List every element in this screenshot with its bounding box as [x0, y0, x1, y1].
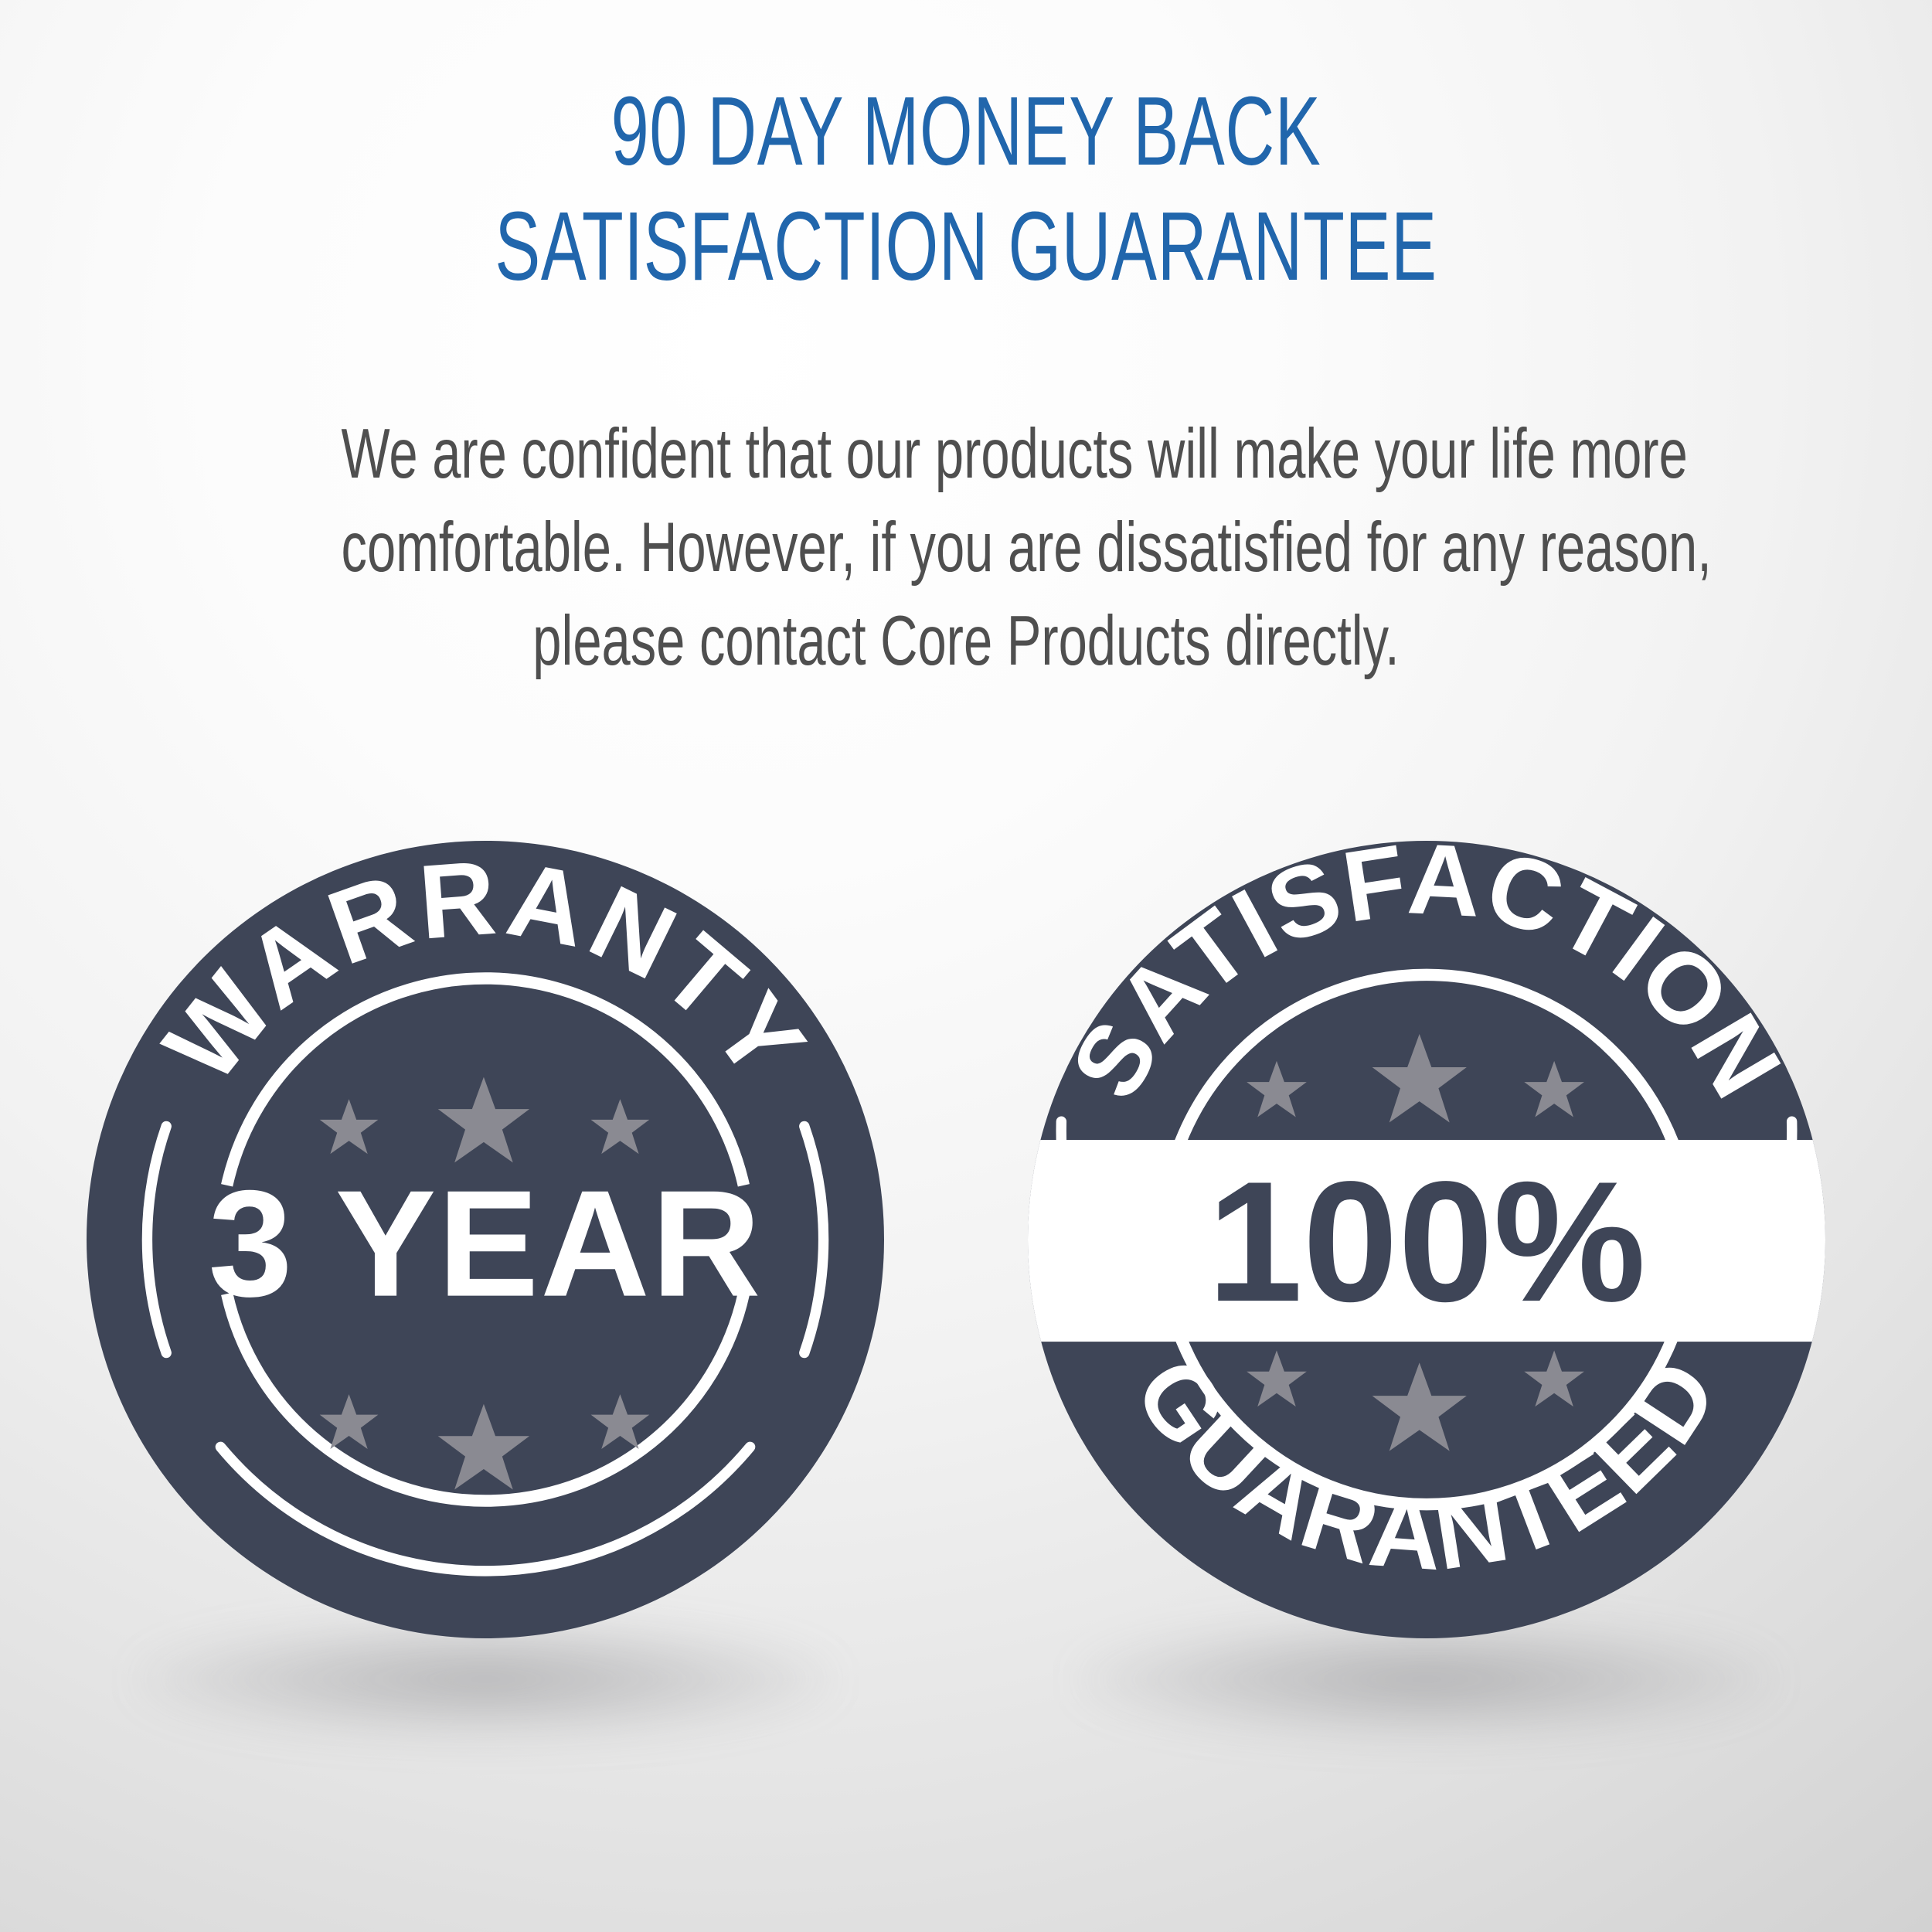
warranty-badge-shadow: [138, 1621, 833, 1737]
headline-line-1: 90 DAY MONEY BACK: [290, 74, 1642, 189]
headline-line-2: SATISFACTION GUARANTEE: [290, 189, 1642, 304]
satisfaction-badge: SATISFACTION GUARANTEED 100%: [1028, 841, 1825, 1638]
warranty-badge: WARRANTY 3 YEAR: [87, 841, 884, 1638]
body-line-3: please contact Core Products directly.: [342, 594, 1591, 688]
satisfaction-badge-shadow: [1079, 1621, 1774, 1737]
guarantee-graphic: 90 DAY MONEY BACK SATISFACTION GUARANTEE…: [0, 0, 1932, 1932]
body-line-1: We are confident that our products will …: [342, 407, 1591, 501]
page-title: 90 DAY MONEY BACK SATISFACTION GUARANTEE: [290, 74, 1642, 304]
body-line-2: comfortable. However, if you are dissati…: [342, 501, 1591, 594]
body-paragraph: We are confident that our products will …: [342, 407, 1591, 688]
badge-row: WARRANTY 3 YEAR: [0, 841, 1932, 1691]
warranty-center-label: 3 YEAR: [208, 1159, 762, 1328]
satisfaction-center-label: 100%: [1207, 1146, 1645, 1338]
